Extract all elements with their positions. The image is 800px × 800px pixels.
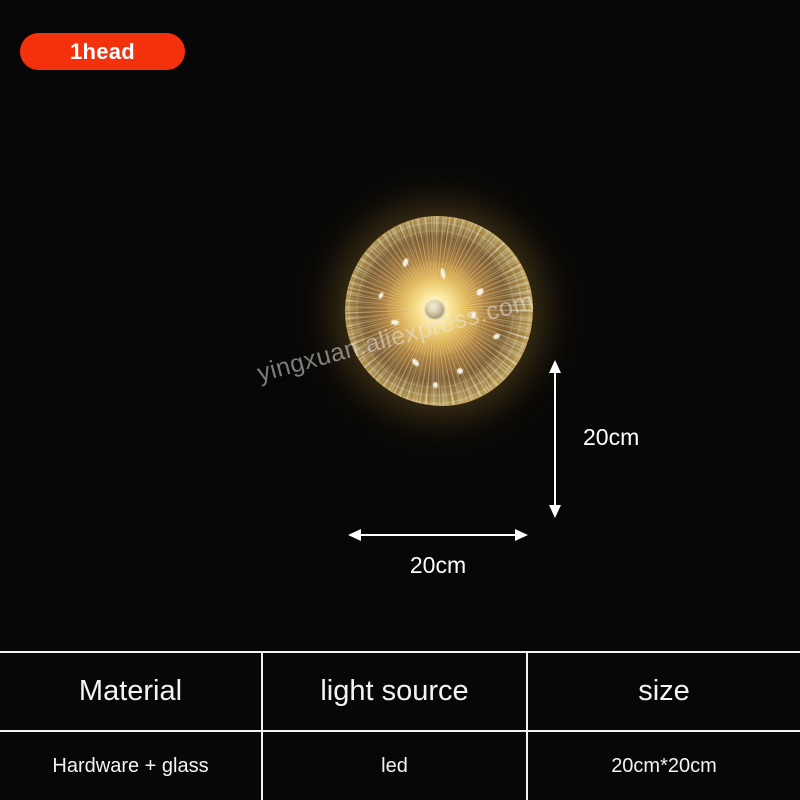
width-dimension-arrow: [348, 529, 528, 541]
width-dimension-label: 20cm: [348, 554, 528, 577]
arrow-shaft: [357, 534, 519, 536]
spec-header-light-source: light source: [261, 653, 528, 730]
lamp-sparkle: [457, 368, 463, 374]
arrow-head-down-icon: [549, 505, 561, 518]
lamp-center-hub: [427, 301, 444, 317]
lamp-glass-body: [345, 216, 533, 406]
spec-value-material: Hardware + glass: [0, 732, 261, 800]
spec-header-size: size: [528, 653, 800, 730]
spec-value-size: 20cm*20cm: [528, 732, 800, 800]
variant-badge-label: 1head: [70, 41, 135, 63]
spec-table-value-row: Hardware + glass led 20cm*20cm: [0, 732, 800, 800]
variant-badge: 1head: [20, 33, 185, 70]
height-dimension-label: 20cm: [583, 426, 639, 449]
spec-table-header-row: Material light source size: [0, 653, 800, 732]
arrow-shaft: [554, 368, 556, 510]
lamp-sparkle: [471, 312, 476, 318]
height-dimension-arrow: [549, 360, 561, 518]
lamp-sparkle: [433, 382, 438, 388]
spec-table: Material light source size Hardware + gl…: [0, 651, 800, 800]
spec-header-material: Material: [0, 653, 261, 730]
product-photo: yingxuan.aliexpress.com 20cm 20cm: [0, 110, 800, 630]
lamp-product-image: [345, 216, 533, 406]
spec-value-light-source: led: [261, 732, 528, 800]
arrow-head-right-icon: [515, 529, 528, 541]
product-image-canvas: 1head: [0, 0, 800, 800]
